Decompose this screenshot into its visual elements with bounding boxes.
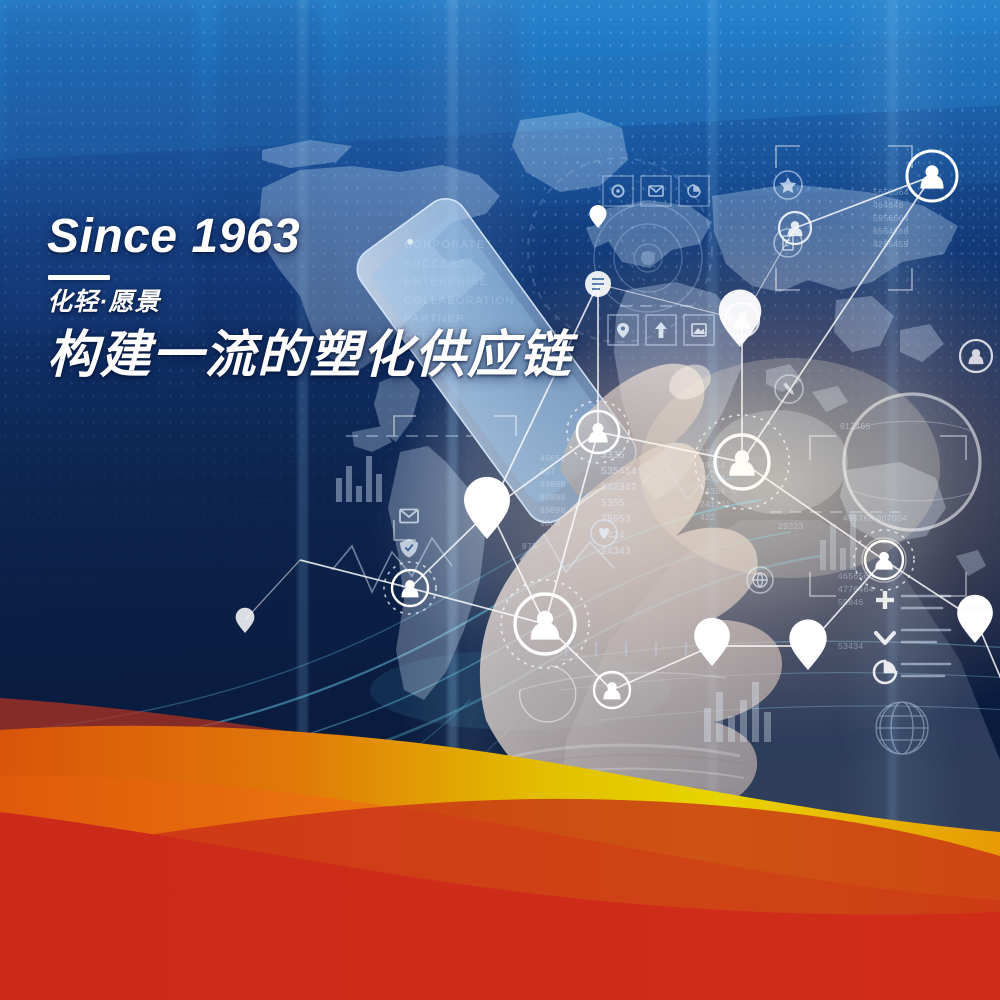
eyebrow-since: Since 1963 <box>47 212 572 262</box>
hero-subtitle: 化轻·愿景 <box>47 289 572 317</box>
data-column-4: 5650564464648595656465645684265459 <box>873 186 909 251</box>
data-column-7: 53434 <box>838 640 864 653</box>
hero-headline: 构建一流的塑化供应链 <box>47 326 572 383</box>
data-column-8: 612465 <box>840 420 871 433</box>
hero-banner: CORPORATE SUCCESS ENTERPRISE COLLABORATI… <box>0 0 1000 1000</box>
data-column-6: 455768 807004 <box>843 512 907 525</box>
bottom-wave-graphic <box>0 680 1000 1000</box>
hero-text-block: Since 1963 化轻·愿景 构建一流的塑化供应链 <box>47 212 572 383</box>
data-column-5: 4656566477646459846 <box>838 570 874 609</box>
title-divider <box>48 275 110 280</box>
data-column-10: 29223 <box>778 520 804 533</box>
data-column-1: 456515078989889898898989008 <box>540 452 566 530</box>
data-column-9: 635666 <box>962 602 993 615</box>
data-column-3: 2865894543453424354241231422 <box>700 446 731 524</box>
data-column-2: 3335535454542342535578653242424343 <box>601 448 637 560</box>
data-column-11: 875 <box>522 540 537 553</box>
